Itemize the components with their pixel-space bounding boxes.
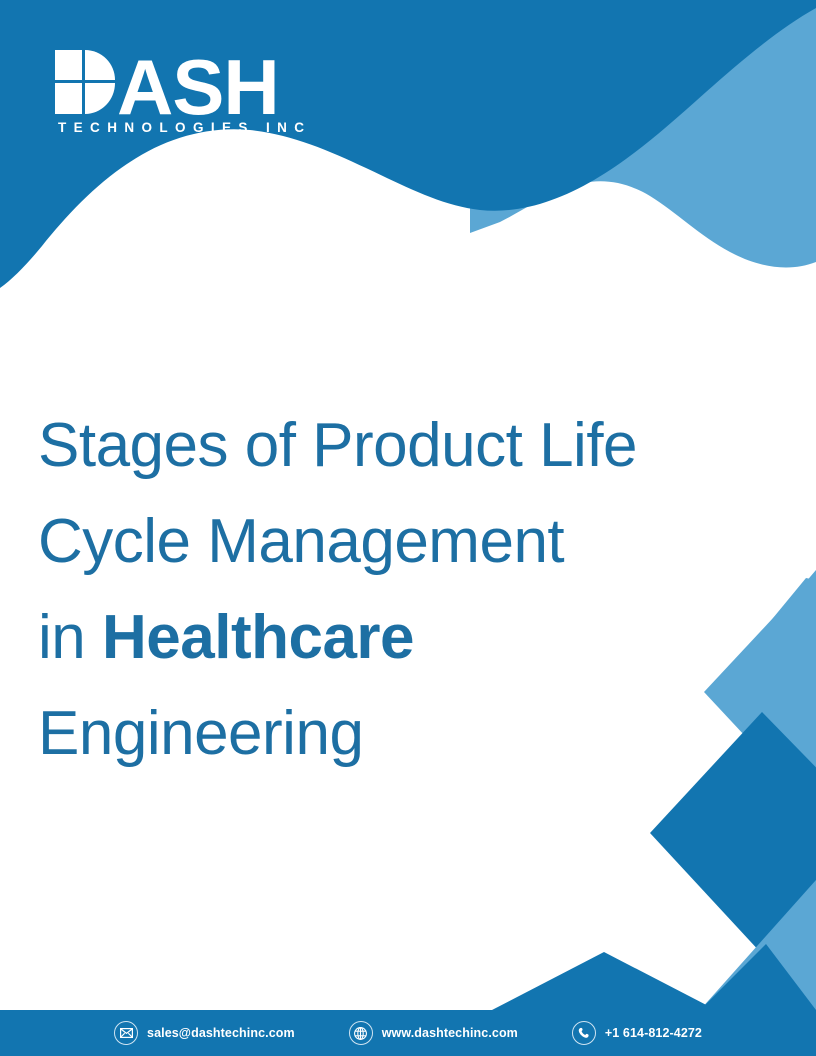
envelope-icon	[114, 1021, 138, 1045]
phone-icon	[572, 1021, 596, 1045]
title-line-2: Cycle Management	[38, 494, 778, 590]
contact-email[interactable]: sales@dashtechinc.com	[114, 1021, 295, 1045]
title-line-1: Stages of Product Life	[38, 398, 778, 494]
contact-website[interactable]: www.dashtechinc.com	[349, 1021, 518, 1045]
contact-phone[interactable]: +1 614-812-4272	[572, 1021, 702, 1045]
contact-email-label: sales@dashtechinc.com	[147, 1026, 295, 1040]
contact-website-label: www.dashtechinc.com	[382, 1026, 518, 1040]
title-line-3-prefix: in	[38, 603, 102, 672]
footer-contact-list: sales@dashtechinc.com www.dashtechinc.co…	[114, 1021, 702, 1045]
title-line-4: Engineering	[38, 686, 778, 782]
diamond-dark-bottom	[492, 952, 716, 1010]
contact-phone-label: +1 614-812-4272	[605, 1026, 702, 1040]
title-line-3: in Healthcare	[38, 590, 778, 686]
page-title: Stages of Product Life Cycle Management …	[38, 398, 778, 782]
footer-contact-bar: sales@dashtechinc.com www.dashtechinc.co…	[0, 1010, 816, 1056]
cover-page: ASH TECHNOLOGIES INC Stages of Product L…	[0, 0, 816, 1056]
title-line-3-bold: Healthcare	[102, 603, 414, 672]
globe-icon	[349, 1021, 373, 1045]
